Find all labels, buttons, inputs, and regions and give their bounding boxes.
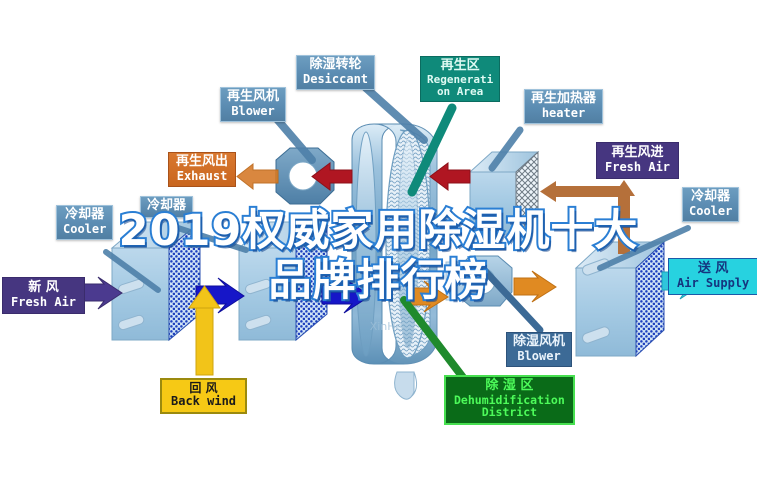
label-regeneration-exhaust[interactable]: 再生风出 Exhaust — [168, 152, 236, 187]
label-regeneration-blower[interactable]: 再生风机 Blower — [220, 87, 286, 122]
rotor-watermark: XinHe — [370, 320, 403, 333]
label-cooler-right[interactable]: 冷却器 Cooler — [682, 187, 739, 222]
label-dehumidification-district[interactable]: 除 湿 区 Dehumidification District — [444, 375, 575, 425]
cooler-coil-2 — [239, 222, 327, 340]
regeneration-heater-coil — [470, 152, 538, 234]
label-back-wind[interactable]: 回 风 Back wind — [160, 378, 247, 414]
schematic-illustration: XinHe — [0, 0, 757, 488]
label-desiccant-wheel[interactable]: 除湿转轮 Desiccant — [296, 55, 375, 90]
label-regeneration-area[interactable]: 再生区 Regenerati on Area — [420, 56, 500, 102]
cooler-coil-1 — [112, 222, 200, 340]
diagram-canvas: XinHe — [0, 0, 757, 488]
dehumidification-fan — [446, 256, 512, 306]
blower-out-arrow — [514, 271, 556, 302]
label-regeneration-fresh-air-in[interactable]: 再生风进 Fresh Air — [596, 142, 679, 179]
exhaust-arrow — [237, 164, 276, 189]
label-cooler-left-inner[interactable]: 冷却器 — [140, 196, 193, 218]
regen-intake-arrow-left — [540, 181, 626, 202]
label-dehumidification-blower[interactable]: 除湿风机 Blower — [506, 332, 572, 367]
label-fresh-air-inlet[interactable]: 新 风 Fresh Air — [2, 277, 85, 314]
label-cooler-left-outer[interactable]: 冷却器 Cooler — [56, 205, 113, 240]
label-air-supply[interactable]: 送 风 Air Supply — [668, 258, 757, 295]
label-regeneration-heater[interactable]: 再生加热器 heater — [524, 89, 603, 124]
